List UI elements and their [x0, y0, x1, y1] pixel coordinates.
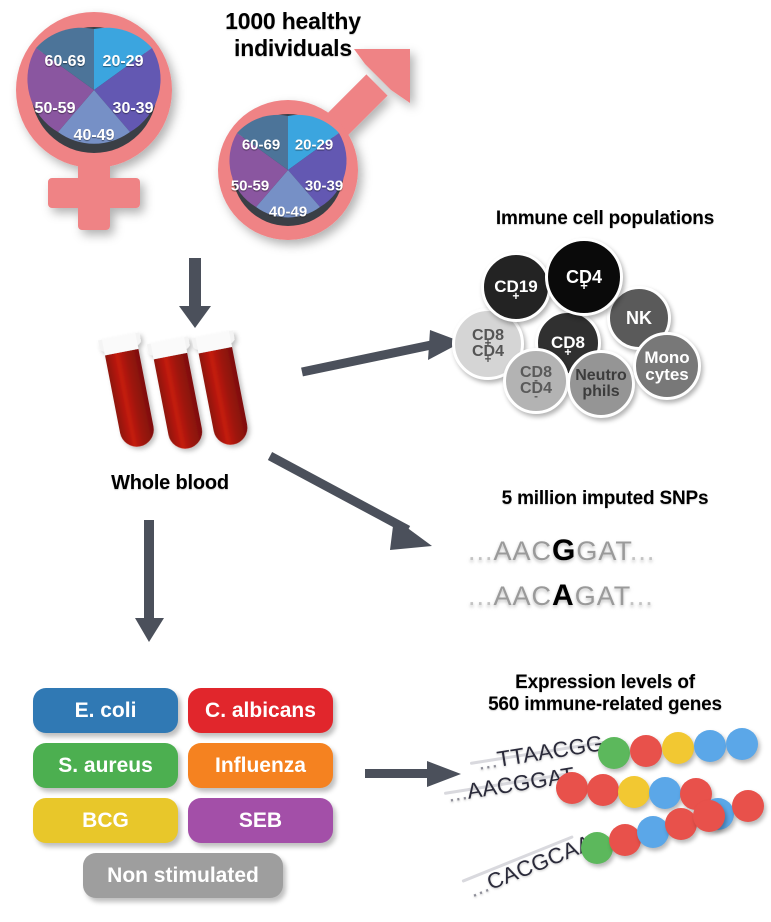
- section-title-immune-cells: Immune cell populations: [455, 208, 755, 230]
- cell-label-line1: NK: [626, 309, 652, 327]
- snp-sequence-block: ...AACGGAT... ...AACAGAT...: [468, 528, 748, 618]
- female-symbol-shape: [8, 8, 198, 238]
- expression-title-line1: Expression levels of: [450, 672, 760, 694]
- figure-canvas: 1000 healthy individuals: [0, 0, 771, 922]
- arrow-blood-to-snps: [268, 450, 448, 555]
- immune-cell-neutrophils: Neutro phils: [567, 350, 635, 418]
- cell-label-line1: CD19+: [494, 278, 537, 295]
- bead-chain-2-bead-7: [732, 790, 764, 822]
- cell-label-line2: phils: [575, 384, 627, 400]
- cell-label-line1: CD4+: [566, 268, 602, 286]
- male-gender-symbol: 20-29 30-39 40-49 50-59 60-69: [205, 45, 420, 250]
- bead-chain-2-bead-4: [649, 777, 681, 809]
- immune-cell-cd4pos: CD4+: [545, 238, 623, 316]
- cell-label-line1: CD8-: [520, 365, 552, 381]
- bead-chain-2-bead-1: [556, 772, 588, 804]
- section-title-snps: 5 million imputed SNPs: [455, 488, 755, 510]
- immune-cell-population-cluster: CD8+ CD4+ CD19+ CD4+ NK CD8+ CD8- CD4- N…: [455, 238, 755, 418]
- snp-allele-2: A: [552, 579, 575, 612]
- bead-chain-1-bead-2: [630, 735, 662, 767]
- label-whole-blood: Whole blood: [60, 472, 280, 496]
- bead-chain-3-bead-5: [693, 800, 725, 832]
- stimulus-bcg[interactable]: BCG: [33, 798, 178, 843]
- arrow-blood-to-immune-cells: [300, 330, 465, 380]
- cell-label-line1: Mono: [644, 349, 689, 366]
- immune-cell-cd19pos: CD19+: [481, 252, 551, 322]
- snp-sequence-row-2: ...AACAGAT...: [468, 573, 748, 618]
- stimulus-seb[interactable]: SEB: [188, 798, 333, 843]
- snp-allele-1: G: [552, 534, 576, 567]
- immune-cell-cd8neg-cd4neg: CD8- CD4-: [503, 348, 569, 414]
- arrow-down-cohort-to-blood: [175, 258, 215, 330]
- bead-chain-3-sequence: ...CACGCAA: [465, 830, 596, 903]
- female-gender-symbol: 20-29 30-39 40-49 50-59 60-69: [8, 8, 198, 238]
- arrow-down-blood-to-stimuli: [130, 520, 170, 645]
- cell-label-line2: CD4+: [472, 344, 504, 360]
- male-symbol-shape: [205, 45, 420, 250]
- blood-collection-tubes-icon: [96, 330, 266, 470]
- stimulus-non-stimulated[interactable]: Non stimulated: [83, 853, 283, 898]
- stimuli-row: S. aureus Influenza: [33, 743, 333, 788]
- stimulus-c-albicans[interactable]: C. albicans: [188, 688, 333, 733]
- cohort-title-line1: 1000 healthy: [178, 8, 408, 35]
- dna-bead-chains: ...TTAACGG ...AACGGAT ...CACGCAA: [448, 720, 771, 920]
- stimulus-influenza[interactable]: Influenza: [188, 743, 333, 788]
- bead-chain-2-bead-3: [618, 776, 650, 808]
- bead-chain-2-bead-2: [587, 774, 619, 806]
- cell-label-line1: Neutro: [575, 368, 627, 384]
- stimuli-row: E. coli C. albicans: [33, 688, 333, 733]
- cell-label-line2: CD4-: [520, 381, 552, 397]
- stimulus-s-aureus[interactable]: S. aureus: [33, 743, 178, 788]
- expression-title-line2: 560 immune-related genes: [450, 694, 760, 716]
- bead-chain-1-bead-5: [726, 728, 758, 760]
- cell-label-line1: CD8+: [472, 328, 504, 344]
- bead-chain-1-bead-3: [662, 732, 694, 764]
- snp-sequence-row-1: ...AACGGAT...: [468, 528, 748, 573]
- bead-chain-1-bead-1: [598, 737, 630, 769]
- stimulus-e-coli[interactable]: E. coli: [33, 688, 178, 733]
- stimuli-condition-grid: E. coli C. albicans S. aureus Influenza …: [33, 688, 333, 908]
- immune-cell-monocytes: Mono cytes: [633, 332, 701, 400]
- bead-chain-1-bead-4: [694, 730, 726, 762]
- cell-label-line2: cytes: [644, 366, 689, 383]
- stimuli-row: BCG SEB: [33, 798, 333, 843]
- section-title-expression: Expression levels of 560 immune-related …: [450, 672, 760, 717]
- cell-label-line1: CD8+: [551, 334, 585, 351]
- stimuli-row: Non stimulated: [33, 853, 333, 898]
- blood-tubes-shape: [96, 330, 266, 465]
